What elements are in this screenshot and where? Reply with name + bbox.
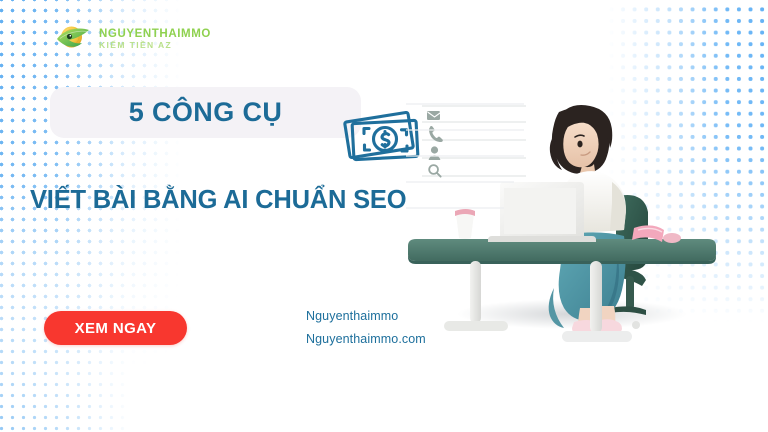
hero-illustration: [404, 78, 734, 348]
brand-name: NGUYENTHAIMMO: [99, 28, 211, 40]
cta-xem-ngay-button[interactable]: XEM NGAY: [44, 311, 187, 345]
cta-label: XEM NGAY: [75, 320, 157, 337]
brand-logo[interactable]: NGUYENTHAIMMO KIẾM TIỀN AZ: [56, 22, 211, 56]
banner-canvas: NGUYENTHAIMMO KIẾM TIỀN AZ 5 CÔNG CỤ VIẾ…: [0, 0, 768, 432]
brand-logo-text: NGUYENTHAIMMO KIẾM TIỀN AZ: [99, 28, 211, 50]
headline-main-text: VIẾT BÀI BẰNG AI CHUẨN SEO: [30, 186, 450, 215]
dot-pattern-bottom-left: [0, 258, 146, 432]
brand-tagline: KIẾM TIỀN AZ: [99, 41, 211, 50]
coin-leaf-logo-icon: [56, 22, 92, 56]
headline-kicker-pill: 5 CÔNG CỤ: [50, 87, 361, 138]
woman-at-desk-illustration: [404, 78, 734, 348]
headline-kicker-text: 5 CÔNG CỤ: [129, 97, 283, 128]
